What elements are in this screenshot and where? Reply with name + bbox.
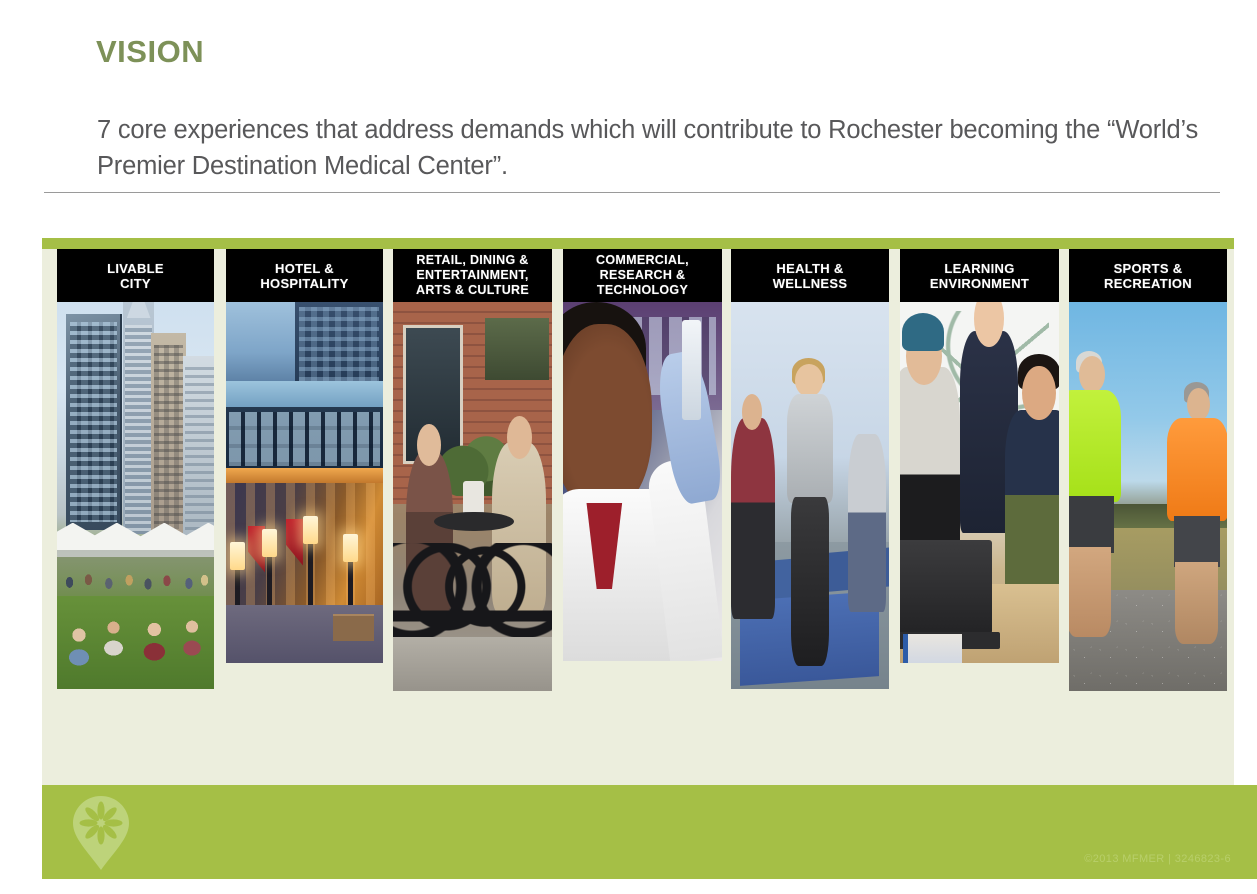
page-title: VISION [96, 36, 204, 67]
column-photo-livable-city [57, 302, 214, 689]
column-photo-commercial-research [563, 302, 722, 661]
column-photo-retail-dining [393, 302, 552, 691]
column-header-health-wellness: HEALTH & WELLNESS [731, 249, 889, 302]
experiences-panel: LIVABLE CITY HOTEL & HOSPITALITY [42, 238, 1234, 785]
column-header-line-1: SPORTS & [1114, 261, 1183, 276]
experience-column-retail-dining[interactable]: RETAIL, DINING & ENTERTAINMENT, ARTS & C… [393, 249, 552, 691]
mayo-clinic-pin-logo-icon [68, 794, 134, 872]
experience-columns: LIVABLE CITY HOTEL & HOSPITALITY [42, 238, 1234, 785]
column-header-line-1: RETAIL, DINING & [416, 253, 528, 267]
experience-column-livable-city[interactable]: LIVABLE CITY [57, 249, 214, 689]
experience-column-sports-recreation[interactable]: SPORTS & RECREATION [1069, 249, 1227, 691]
column-header-line-2: ENVIRONMENT [930, 276, 1029, 291]
column-header-line-2: CITY [120, 276, 151, 291]
experience-column-health-wellness[interactable]: HEALTH & WELLNESS [731, 249, 889, 689]
column-header-line-2: RECREATION [1104, 276, 1192, 291]
column-header-line-3: ARTS & CULTURE [416, 283, 529, 297]
column-header-sports-recreation: SPORTS & RECREATION [1069, 249, 1227, 302]
column-header-line-1: COMMERCIAL, [596, 253, 689, 267]
experience-column-commercial-research[interactable]: COMMERCIAL, RESEARCH & TECHNOLOGY [563, 249, 722, 661]
copyright-credit: ©2013 MFMER | 3246823-6 [1084, 853, 1231, 865]
column-header-line-2: WELLNESS [773, 276, 848, 291]
experience-column-hotel-hospitality[interactable]: HOTEL & HOSPITALITY [226, 249, 383, 663]
slide-subtitle: 7 core experiences that address demands … [97, 112, 1227, 184]
footer-band: ©2013 MFMER | 3246823-6 [42, 785, 1257, 879]
column-photo-learning-environment [900, 302, 1059, 663]
title-divider [44, 192, 1220, 193]
column-header-learning-environment: LEARNING ENVIRONMENT [900, 249, 1059, 302]
column-header-line-1: LIVABLE [107, 261, 164, 276]
column-header-line-1: HOTEL & [275, 261, 334, 276]
column-photo-sports-recreation [1069, 302, 1227, 691]
column-header-retail-dining: RETAIL, DINING & ENTERTAINMENT, ARTS & C… [393, 249, 552, 302]
column-header-commercial-research: COMMERCIAL, RESEARCH & TECHNOLOGY [563, 249, 722, 302]
column-header-hotel-hospitality: HOTEL & HOSPITALITY [226, 249, 383, 302]
experience-column-learning-environment[interactable]: LEARNING ENVIRONMENT [900, 249, 1059, 663]
column-header-line-3: TECHNOLOGY [597, 283, 688, 297]
column-header-line-2: ENTERTAINMENT, [416, 268, 528, 282]
column-header-line-1: HEALTH & [776, 261, 843, 276]
column-header-line-1: LEARNING [944, 261, 1014, 276]
column-photo-health-wellness [731, 302, 889, 689]
column-header-line-2: HOSPITALITY [260, 276, 348, 291]
column-header-livable-city: LIVABLE CITY [57, 249, 214, 302]
column-photo-hotel-hospitality [226, 302, 383, 663]
column-header-line-2: RESEARCH & [600, 268, 686, 282]
